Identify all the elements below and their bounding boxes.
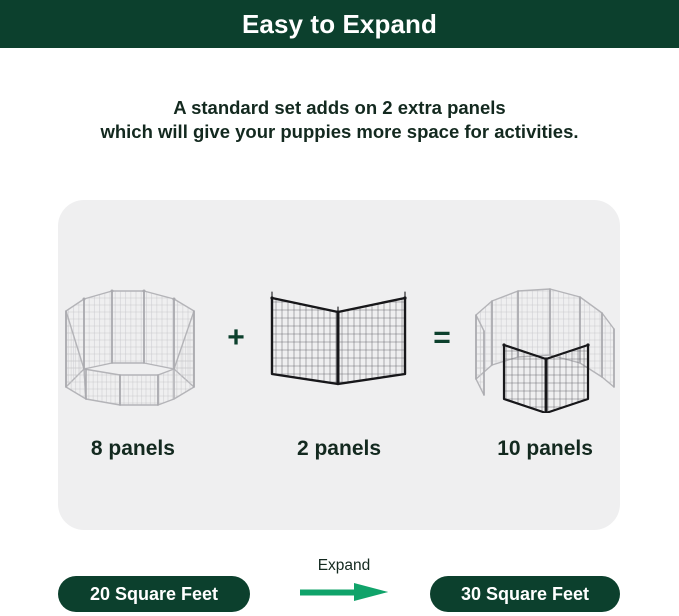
subtitle-line-2: which will give your puppies more space … bbox=[0, 120, 679, 144]
status-badge-20-square-feet: 20 Square Feet bbox=[58, 576, 250, 612]
right-arrow-icon bbox=[298, 581, 390, 603]
label-10-panels: 10 panels bbox=[470, 438, 620, 459]
subtitle-block: A standard set adds on 2 extra panels wh… bbox=[0, 96, 679, 144]
subtitle-line-1: A standard set adds on 2 extra panels bbox=[0, 96, 679, 120]
expand-indicator: Expand bbox=[289, 558, 399, 614]
label-2-panels: 2 panels bbox=[264, 438, 414, 459]
figures-row: + bbox=[58, 258, 620, 418]
figure-10-panel-playpen bbox=[470, 258, 620, 418]
two-panel-extension-icon bbox=[264, 278, 414, 398]
comparison-card: + bbox=[58, 200, 620, 530]
equals-operator: = bbox=[414, 323, 470, 353]
decagonal-playpen-icon bbox=[470, 263, 620, 413]
status-badge-30-square-feet: 30 Square Feet bbox=[430, 576, 620, 612]
footer-row: 20 Square Feet Expand 30 Square Feet bbox=[0, 550, 679, 616]
plus-operator: + bbox=[208, 323, 264, 353]
expand-label: Expand bbox=[318, 558, 371, 574]
figure-8-panel-playpen bbox=[58, 258, 208, 418]
figure-2-panel-extension bbox=[264, 258, 414, 418]
octagonal-playpen-icon bbox=[58, 263, 208, 413]
page-title: Easy to Expand bbox=[242, 11, 437, 37]
header-banner: Easy to Expand bbox=[0, 0, 679, 48]
label-8-panels: 8 panels bbox=[58, 438, 208, 459]
figure-labels-row: 8 panels 2 panels 10 panels bbox=[58, 438, 620, 459]
